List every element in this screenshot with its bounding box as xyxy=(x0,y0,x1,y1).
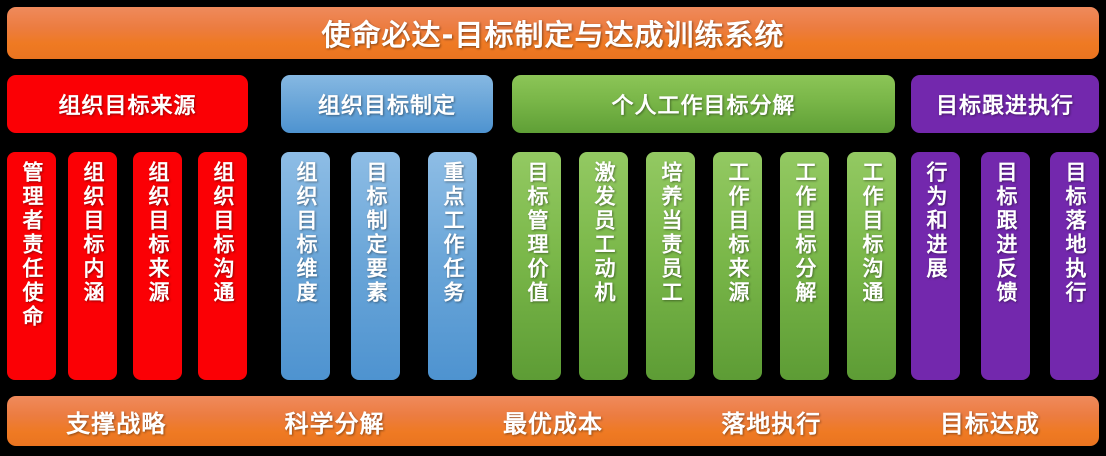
topic-column-red-3[interactable]: 组织目标来源 xyxy=(133,152,182,380)
topic-column-label: 工作目标分解 xyxy=(794,161,815,305)
outcome-item-2[interactable]: 科学分解 xyxy=(225,404,443,439)
section-header-label: 目标跟进执行 xyxy=(936,88,1074,120)
section-header-personal-goal-breakdown[interactable]: 个人工作目标分解 xyxy=(512,75,895,133)
topic-columns-row: 管理者责任使命 组织目标内涵 组织目标来源 组织目标沟通 组织目标维度 目标制定… xyxy=(0,152,1106,380)
topic-column-blue-1[interactable]: 组织目标维度 xyxy=(281,152,330,380)
topic-column-green-6[interactable]: 工作目标沟通 xyxy=(847,152,896,380)
topic-column-label: 组织目标沟通 xyxy=(212,161,233,305)
section-header-label: 个人工作目标分解 xyxy=(611,88,795,120)
topic-column-green-1[interactable]: 目标管理价值 xyxy=(512,152,561,380)
topic-column-label: 激发员工动机 xyxy=(593,161,614,305)
topic-column-blue-2[interactable]: 目标制定要素 xyxy=(351,152,400,380)
topic-column-red-2[interactable]: 组织目标内涵 xyxy=(68,152,117,380)
outcome-item-5[interactable]: 目标达成 xyxy=(881,404,1099,439)
section-header-organization-goal-source[interactable]: 组织目标来源 xyxy=(7,75,248,133)
system-title-bar: 使命必达-目标制定与达成训练系统 xyxy=(7,7,1099,59)
topic-column-green-5[interactable]: 工作目标分解 xyxy=(780,152,829,380)
topic-column-label: 管理者责任使命 xyxy=(21,161,42,329)
topic-column-green-4[interactable]: 工作目标来源 xyxy=(713,152,762,380)
topic-column-label: 目标跟进反馈 xyxy=(995,161,1016,305)
outcome-item-1[interactable]: 支撑战略 xyxy=(7,404,225,439)
section-header-label: 组织目标制定 xyxy=(318,88,456,120)
section-headers-row: 组织目标来源 组织目标制定 个人工作目标分解 目标跟进执行 xyxy=(0,75,1106,133)
topic-column-purple-3[interactable]: 目标落地执行 xyxy=(1050,152,1099,380)
section-header-label: 组织目标来源 xyxy=(58,88,196,120)
topic-column-label: 目标管理价值 xyxy=(526,161,547,305)
topic-column-label: 培养当责员工 xyxy=(660,161,681,305)
topic-column-label: 行为和进展 xyxy=(925,161,946,281)
topic-column-label: 组织目标维度 xyxy=(295,161,316,305)
outcome-item-4[interactable]: 落地执行 xyxy=(662,404,880,439)
topic-column-label: 重点工作任务 xyxy=(442,161,463,305)
topic-column-blue-3[interactable]: 重点工作任务 xyxy=(428,152,477,380)
topic-column-label: 组织目标内涵 xyxy=(82,161,103,305)
topic-column-label: 工作目标来源 xyxy=(727,161,748,305)
topic-column-label: 目标制定要素 xyxy=(365,161,386,305)
topic-column-purple-2[interactable]: 目标跟进反馈 xyxy=(981,152,1030,380)
topic-column-label: 组织目标来源 xyxy=(147,161,168,305)
outcome-footer-bar: 支撑战略 科学分解 最优成本 落地执行 目标达成 xyxy=(7,396,1099,446)
diagram-canvas: 使命必达-目标制定与达成训练系统 组织目标来源 组织目标制定 个人工作目标分解 … xyxy=(0,0,1106,456)
section-header-organization-goal-setting[interactable]: 组织目标制定 xyxy=(281,75,493,133)
topic-column-label: 目标落地执行 xyxy=(1064,161,1085,305)
topic-column-purple-1[interactable]: 行为和进展 xyxy=(911,152,960,380)
topic-column-red-1[interactable]: 管理者责任使命 xyxy=(7,152,56,380)
topic-column-green-2[interactable]: 激发员工动机 xyxy=(579,152,628,380)
system-title-text: 使命必达-目标制定与达成训练系统 xyxy=(321,12,784,54)
topic-column-label: 工作目标沟通 xyxy=(861,161,882,305)
outcome-item-3[interactable]: 最优成本 xyxy=(444,404,662,439)
topic-column-red-4[interactable]: 组织目标沟通 xyxy=(198,152,247,380)
topic-column-green-3[interactable]: 培养当责员工 xyxy=(646,152,695,380)
section-header-goal-follow-up-execution[interactable]: 目标跟进执行 xyxy=(911,75,1099,133)
